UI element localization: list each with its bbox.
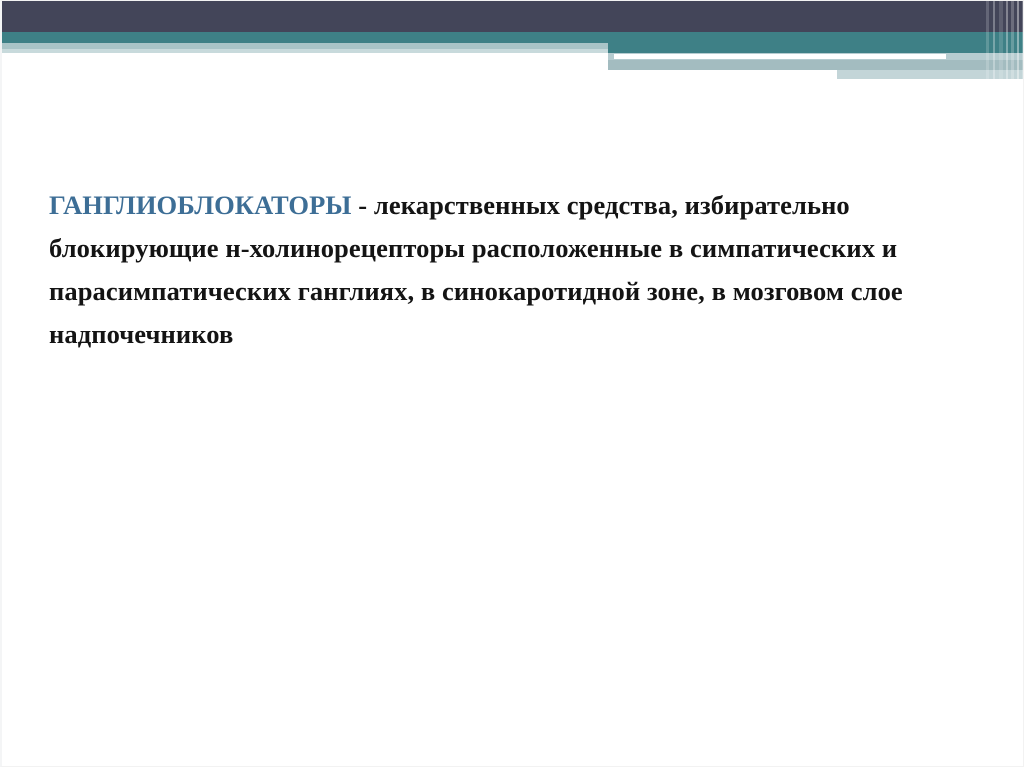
stripe-3 — [999, 1, 1003, 91]
decorative-header-banner — [2, 1, 1024, 91]
slide-body-text: ГАНГЛИОБЛОКАТОРЫ - лекарственных средств… — [49, 184, 939, 356]
stripe-4 — [1006, 1, 1008, 91]
banner-teal-bar — [2, 32, 1024, 43]
banner-white-notch — [614, 54, 946, 59]
banner-navy-bar — [2, 1, 1024, 32]
banner-teal-step — [608, 43, 1024, 53]
slide: ГАНГЛИОБЛОКАТОРЫ - лекарственных средств… — [0, 0, 1024, 767]
banner-vertical-stripes — [982, 1, 1024, 91]
banner-light-band-lower — [608, 60, 1024, 70]
stripe-2 — [993, 1, 995, 91]
banner-pale-band-left-2 — [2, 49, 608, 53]
definition-separator: - — [352, 190, 374, 220]
definition-term: ГАНГЛИОБЛОКАТОРЫ — [49, 190, 352, 220]
stripe-1 — [986, 1, 989, 91]
stripe-5 — [1011, 1, 1014, 91]
stripe-6 — [1017, 1, 1019, 91]
